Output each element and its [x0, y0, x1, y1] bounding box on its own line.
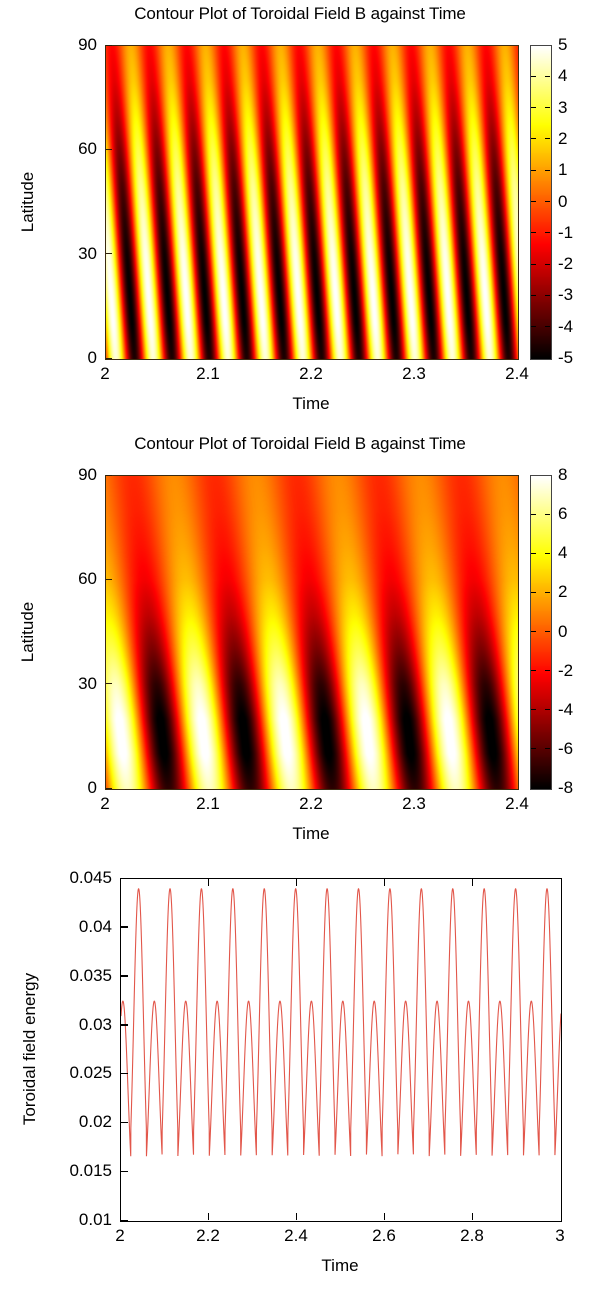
- panel2-colorbar: [530, 475, 552, 790]
- x-tick-mark: [208, 1213, 210, 1220]
- panel1-plot-area: [105, 45, 519, 360]
- x-tick-mark: [296, 879, 298, 886]
- colorbar-tick-mark: [545, 326, 550, 327]
- colorbar-tick-label: -2: [558, 254, 573, 274]
- colorbar-tick-mark: [531, 514, 536, 515]
- y-tick-label: 60: [55, 139, 97, 159]
- colorbar-tick-mark: [545, 748, 550, 749]
- colorbar-tick-label: 4: [558, 543, 567, 563]
- colorbar-tick-mark: [545, 553, 550, 554]
- y-tick-label: 90: [55, 35, 97, 55]
- energy-series-line: [121, 889, 561, 1156]
- colorbar-tick-label: 1: [558, 160, 567, 180]
- y-tick-label: 30: [55, 674, 97, 694]
- y-tick-label: 0.035: [40, 966, 112, 986]
- colorbar-tick-mark: [545, 670, 550, 671]
- x-tick-label: 2.3: [384, 794, 444, 814]
- x-tick-label: 2: [90, 1226, 150, 1246]
- colorbar-tick-label: 2: [558, 129, 567, 149]
- colorbar-tick-mark: [545, 709, 550, 710]
- x-tick-label: 2.4: [266, 1226, 326, 1246]
- y-tick-label: 0.03: [40, 1015, 112, 1035]
- x-tick-label: 2.1: [178, 364, 238, 384]
- y-tick-mark: [121, 1122, 128, 1124]
- y-tick-mark: [121, 926, 128, 928]
- colorbar-tick-mark: [531, 264, 536, 265]
- x-tick-label: 2.8: [442, 1226, 502, 1246]
- x-tick-label: 2.4: [487, 364, 547, 384]
- x-tick-mark: [384, 1213, 386, 1220]
- colorbar-tick-label: -4: [558, 700, 573, 720]
- colorbar-tick-label: -2: [558, 661, 573, 681]
- colorbar-tick-mark: [545, 264, 550, 265]
- colorbar-tick-mark: [531, 232, 536, 233]
- y-tick-mark: [121, 975, 128, 977]
- colorbar-tick-mark: [545, 592, 550, 593]
- y-tick-mark: [106, 149, 112, 150]
- colorbar-tick-label: -8: [558, 778, 573, 798]
- y-tick-mark: [106, 45, 112, 46]
- colorbar-tick-mark: [545, 138, 550, 139]
- colorbar-tick-mark: [545, 514, 550, 515]
- colorbar-tick-mark: [545, 631, 550, 632]
- y-tick-label: 0.04: [40, 917, 112, 937]
- panel2-plot-area: [105, 475, 519, 790]
- colorbar-tick-mark: [531, 748, 536, 749]
- y-tick-mark: [106, 788, 112, 789]
- x-tick-label: 2: [75, 794, 135, 814]
- colorbar-tick-mark: [545, 76, 550, 77]
- colorbar-tick-label: -5: [558, 348, 573, 368]
- colorbar-tick-label: 4: [558, 66, 567, 86]
- colorbar-tick-mark: [531, 107, 536, 108]
- y-tick-label: 30: [55, 244, 97, 264]
- panel3-y-axis-label: Toroidal field energy: [20, 939, 40, 1159]
- y-tick-mark: [106, 683, 112, 684]
- y-tick-mark: [121, 1024, 128, 1026]
- colorbar-tick-mark: [545, 295, 550, 296]
- colorbar-tick-mark: [531, 553, 536, 554]
- contour-panel-1: Contour Plot of Toroidal Field B against…: [0, 0, 600, 430]
- y-tick-label: 0.045: [40, 868, 112, 888]
- y-tick-label: 60: [55, 569, 97, 589]
- x-tick-mark: [472, 879, 474, 886]
- x-tick-label: 2: [75, 364, 135, 384]
- colorbar-tick-mark: [545, 170, 550, 171]
- colorbar-tick-mark: [531, 670, 536, 671]
- colorbar-tick-mark: [531, 592, 536, 593]
- y-tick-label: 0.02: [40, 1112, 112, 1132]
- colorbar-tick-mark: [531, 170, 536, 171]
- x-tick-mark: [472, 1213, 474, 1220]
- x-tick-mark: [384, 879, 386, 886]
- colorbar-tick-mark: [531, 631, 536, 632]
- x-tick-label: 2.3: [384, 364, 444, 384]
- colorbar-tick-label: -4: [558, 317, 573, 337]
- colorbar-tick-label: -6: [558, 739, 573, 759]
- x-tick-label: 2.2: [178, 1226, 238, 1246]
- x-tick-label: 2.6: [354, 1226, 414, 1246]
- line-panel-3: Toroidal field energy Time 0.010.0150.02…: [0, 860, 600, 1289]
- x-tick-label: 2.2: [281, 364, 341, 384]
- colorbar-tick-label: 5: [558, 35, 567, 55]
- colorbar-tick-label: 3: [558, 98, 567, 118]
- panel2-y-axis-label: Latitude: [18, 582, 38, 682]
- colorbar-tick-mark: [531, 709, 536, 710]
- colorbar-tick-mark: [545, 232, 550, 233]
- y-tick-label: 0.025: [40, 1063, 112, 1083]
- y-tick-label: 90: [55, 465, 97, 485]
- y-tick-mark: [106, 475, 112, 476]
- colorbar-tick-mark: [545, 107, 550, 108]
- contour-panel-2: Contour Plot of Toroidal Field B against…: [0, 430, 600, 860]
- y-tick-mark: [121, 1073, 128, 1075]
- y-tick-mark: [106, 253, 112, 254]
- colorbar-tick-mark: [531, 138, 536, 139]
- colorbar-tick-mark: [531, 326, 536, 327]
- panel1-y-axis-label: Latitude: [18, 152, 38, 252]
- y-tick-mark: [121, 1171, 128, 1173]
- panel1-title: Contour Plot of Toroidal Field B against…: [0, 4, 600, 24]
- x-tick-label: 2.1: [178, 794, 238, 814]
- colorbar-tick-mark: [545, 201, 550, 202]
- y-tick-mark: [106, 579, 112, 580]
- x-tick-label: 3: [530, 1226, 590, 1246]
- x-tick-mark: [208, 879, 210, 886]
- colorbar-tick-mark: [531, 295, 536, 296]
- x-tick-mark: [296, 1213, 298, 1220]
- x-tick-label: 2.4: [487, 794, 547, 814]
- colorbar-tick-label: 0: [558, 192, 567, 212]
- panel1-x-axis-label: Time: [105, 394, 517, 414]
- x-tick-label: 2.2: [281, 794, 341, 814]
- panel1-colorbar: [530, 45, 552, 360]
- colorbar-tick-mark: [531, 201, 536, 202]
- y-tick-mark: [106, 358, 112, 359]
- y-tick-mark: [121, 1220, 128, 1222]
- panel3-x-axis-label: Time: [120, 1256, 560, 1276]
- panel3-plot-area: [120, 878, 562, 1222]
- colorbar-tick-label: 2: [558, 582, 567, 602]
- y-tick-label: 0.015: [40, 1161, 112, 1181]
- colorbar-tick-label: -1: [558, 223, 573, 243]
- panel2-x-axis-label: Time: [105, 824, 517, 844]
- colorbar-tick-label: 6: [558, 504, 567, 524]
- colorbar-tick-label: 0: [558, 622, 567, 642]
- colorbar-tick-mark: [531, 76, 536, 77]
- colorbar-tick-label: 8: [558, 465, 567, 485]
- y-tick-mark: [121, 878, 128, 880]
- panel2-title: Contour Plot of Toroidal Field B against…: [0, 434, 600, 454]
- colorbar-tick-label: -3: [558, 285, 573, 305]
